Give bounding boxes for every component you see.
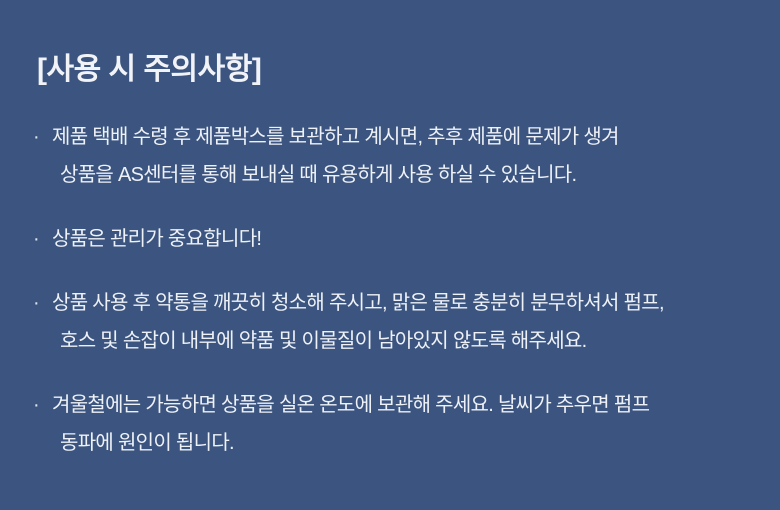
notice-list: · 제품 택배 수령 후 제품박스를 보관하고 계시면, 추후 제품에 문제가 … xyxy=(30,118,756,462)
list-item-text: 겨울철에는 가능하면 상품을 실온 온도에 보관해 주세요. 날씨가 추우면 펌… xyxy=(52,386,756,462)
list-item-text: 상품은 관리가 중요합니다! xyxy=(52,220,756,258)
list-item-text: 제품 택배 수령 후 제품박스를 보관하고 계시면, 추후 제품에 문제가 생겨… xyxy=(52,118,756,194)
notice-panel: [사용 시 주의사항] · 제품 택배 수령 후 제품박스를 보관하고 계시면,… xyxy=(0,0,780,510)
list-item-line: 상품을 AS센터를 통해 보내실 때 유용하게 사용 하실 수 있습니다. xyxy=(52,156,756,194)
list-item-line: 호스 및 손잡이 내부에 약품 및 이물질이 남아있지 않도록 해주세요. xyxy=(52,322,756,360)
bullet-icon: · xyxy=(33,386,47,424)
list-item: · 겨울철에는 가능하면 상품을 실온 온도에 보관해 주세요. 날씨가 추우면… xyxy=(30,386,756,462)
list-item-line: 제품 택배 수령 후 제품박스를 보관하고 계시면, 추후 제품에 문제가 생겨 xyxy=(52,118,756,156)
bullet-icon: · xyxy=(33,220,47,258)
page-title: [사용 시 주의사항] xyxy=(37,50,261,90)
list-item-line: 상품 사용 후 약통을 깨끗히 청소해 주시고, 맑은 물로 충분히 분무하셔서… xyxy=(52,284,756,322)
list-item: · 상품은 관리가 중요합니다! xyxy=(30,220,756,258)
list-item-line: 겨울철에는 가능하면 상품을 실온 온도에 보관해 주세요. 날씨가 추우면 펌… xyxy=(52,386,756,424)
list-item-line: 상품은 관리가 중요합니다! xyxy=(52,220,756,258)
list-item: · 제품 택배 수령 후 제품박스를 보관하고 계시면, 추후 제품에 문제가 … xyxy=(30,118,756,194)
bullet-icon: · xyxy=(33,118,47,156)
bullet-icon: · xyxy=(33,284,47,322)
list-item-text: 상품 사용 후 약통을 깨끗히 청소해 주시고, 맑은 물로 충분히 분무하셔서… xyxy=(52,284,756,360)
list-item: · 상품 사용 후 약통을 깨끗히 청소해 주시고, 맑은 물로 충분히 분무하… xyxy=(30,284,756,360)
list-item-line: 동파에 원인이 됩니다. xyxy=(52,424,756,462)
